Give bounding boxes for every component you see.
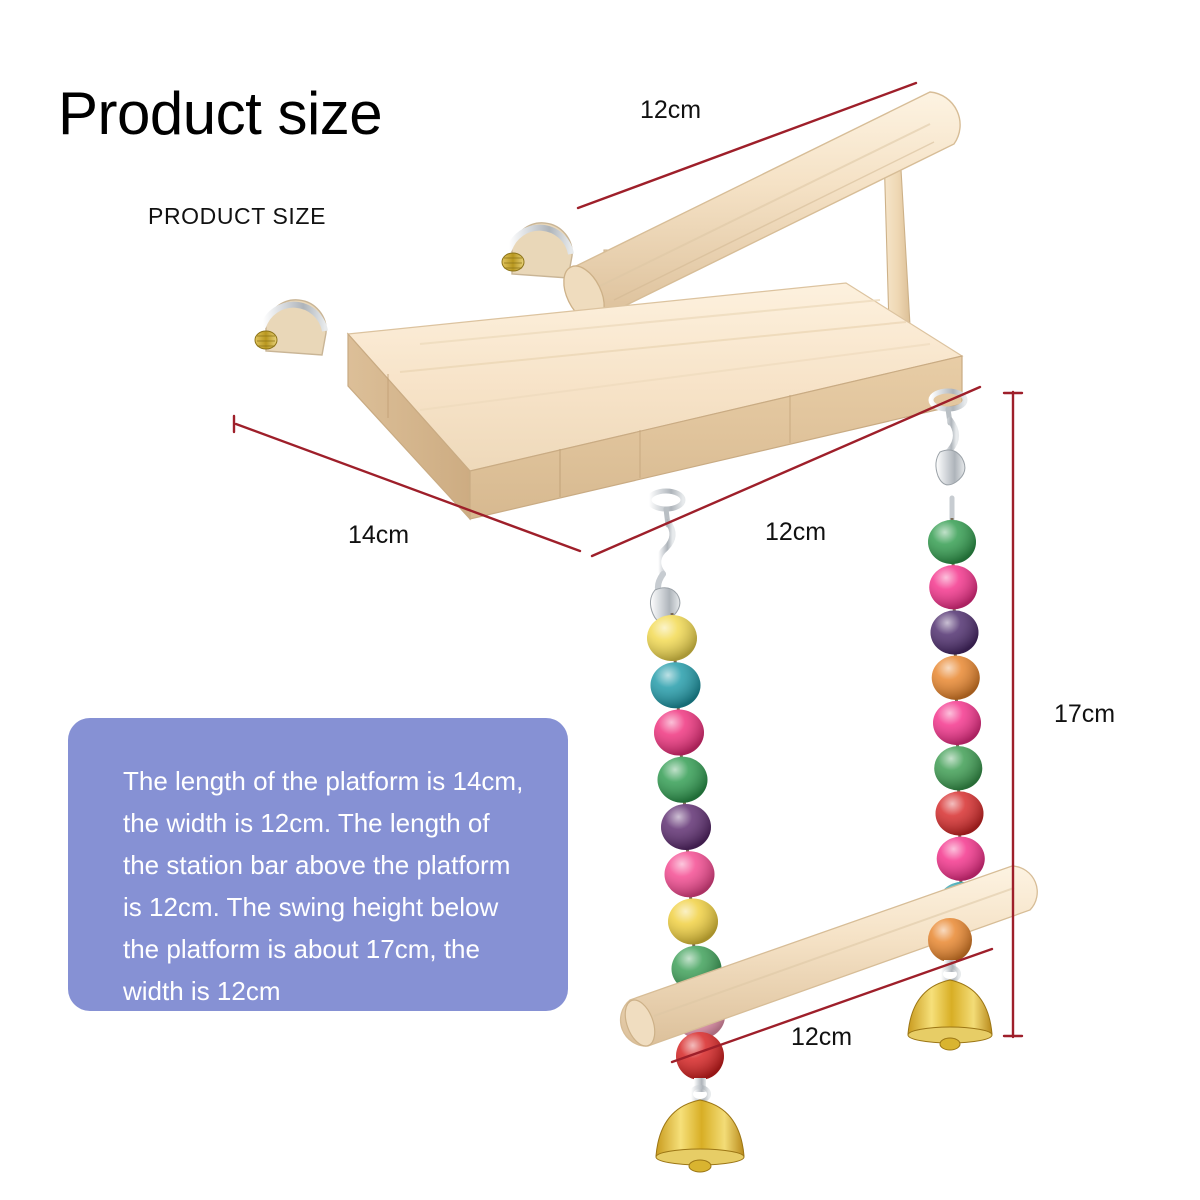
right-chain-bead xyxy=(928,520,976,564)
left-chain-bead xyxy=(665,851,715,897)
mount-bracket-back xyxy=(502,223,572,278)
dimension-label-swing-bar: 12cm xyxy=(791,1023,852,1051)
right-chain-bead xyxy=(933,701,981,745)
page-subtitle: PRODUCT SIZE xyxy=(148,202,326,230)
right-chain-bead xyxy=(932,656,980,700)
product-size-infographic: Product size PRODUCT SIZE The length of … xyxy=(0,0,1200,1200)
platform xyxy=(348,283,962,519)
dimension-label-platform-width: 12cm xyxy=(765,518,826,546)
right-chain-bead xyxy=(931,610,979,654)
bead-chain-right xyxy=(928,518,986,928)
screw-eye-left xyxy=(649,491,683,622)
right-chain-bead xyxy=(937,837,985,881)
dimension-label-top-bar: 12cm xyxy=(640,96,701,124)
dimension-label-platform-length: 14cm xyxy=(348,521,409,549)
mount-bracket-front xyxy=(255,300,326,355)
left-chain-bead xyxy=(647,615,697,661)
right-chain-bead xyxy=(929,565,977,609)
left-chain-bead xyxy=(658,757,708,803)
product-description-text: The length of the platform is 14cm, the … xyxy=(123,760,528,1012)
left-chain-bead xyxy=(654,710,704,756)
left-chain-bead xyxy=(661,804,711,850)
left-chain-bead xyxy=(651,662,701,708)
right-chain-bead xyxy=(936,791,984,835)
product-description-card: The length of the platform is 14cm, the … xyxy=(68,718,568,1011)
dimension-label-swing-height: 17cm xyxy=(1054,700,1115,728)
right-chain-bead xyxy=(934,746,982,790)
left-chain-bead xyxy=(668,899,718,945)
product-illustration xyxy=(0,0,1200,1200)
page-title: Product size xyxy=(58,82,382,146)
